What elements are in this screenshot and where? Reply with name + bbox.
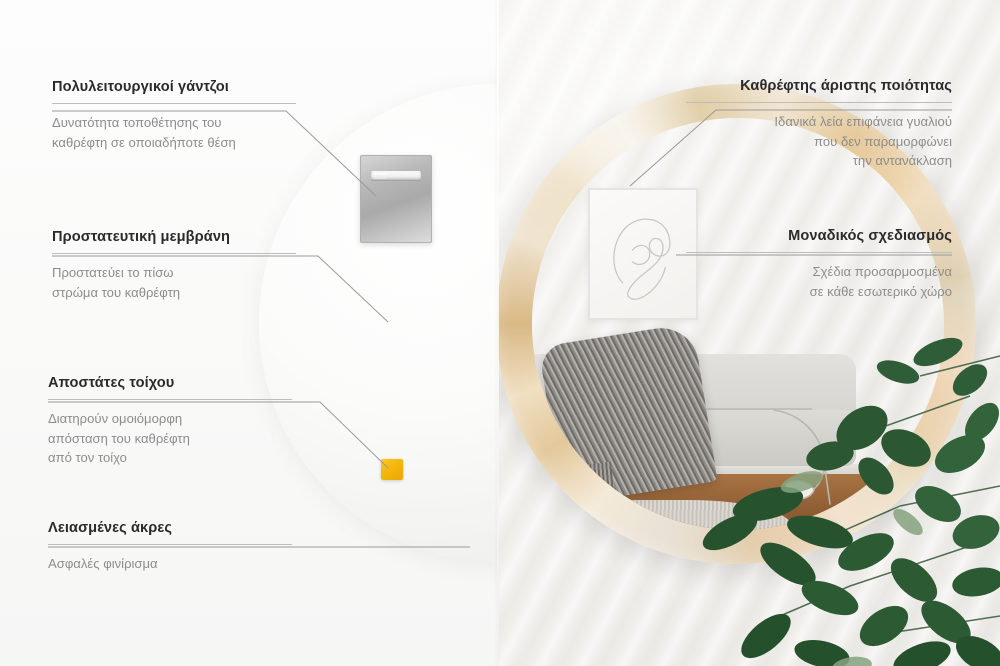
callout-edges-line-1: Ασφαλές φινίρισμα xyxy=(48,554,292,573)
callout-spacers-line-1: Διατηρούν ομοιόμορφη xyxy=(48,409,292,428)
mirror-glass xyxy=(532,118,944,530)
infographic-canvas: Πολυλειτουργικοί γάντζοι Δυνατότητα τοπο… xyxy=(0,0,1000,666)
callout-quality-rule xyxy=(686,102,952,103)
callout-design-rule xyxy=(686,252,952,253)
callout-edges: Λειασμένες άκρες Ασφαλές φινίρισμα xyxy=(48,519,292,574)
callout-membrane-line-2: στρώμα του καθρέφτη xyxy=(52,283,296,302)
callout-edges-rule xyxy=(48,544,292,545)
callout-spacers: Αποστάτες τοίχου Διατηρούν ομοιόμορφη απ… xyxy=(48,374,292,467)
callout-hooks-title: Πολυλειτουργικοί γάντζοι xyxy=(52,78,296,96)
callout-hooks-line-2: καθρέφτη σε οποιαδήποτε θέση xyxy=(52,133,296,152)
callout-membrane-rule xyxy=(52,253,296,254)
callout-quality-mirror: Καθρέφτης άριστης ποιότητας Ιδανικά λεία… xyxy=(686,77,952,170)
hook-plate-icon xyxy=(360,155,432,243)
callout-quality-line-1: Ιδανικά λεία επιφάνεια γυαλιού xyxy=(686,112,952,131)
callout-design-line-1: Σχέδια προσαρμοσμένα xyxy=(686,262,952,281)
callout-spacers-title: Αποστάτες τοίχου xyxy=(48,374,292,392)
wall-spacer-icon xyxy=(381,459,403,480)
callout-spacers-line-3: από τον τοίχο xyxy=(48,448,292,467)
hook-slot xyxy=(371,171,421,181)
callout-design-title: Μοναδικός σχεδιασμός xyxy=(686,227,952,245)
callout-hooks: Πολυλειτουργικοί γάντζοι Δυνατότητα τοπο… xyxy=(52,78,296,152)
callout-quality-title: Καθρέφτης άριστης ποιότητας xyxy=(686,77,952,95)
callout-spacers-rule xyxy=(48,399,292,400)
callout-design-line-2: σε κάθε εσωτερικό χώρο xyxy=(686,282,952,301)
reflected-throw-fringe xyxy=(538,462,617,515)
callout-quality-line-2: που δεν παραμορφώνει xyxy=(686,132,952,151)
callout-hooks-line-1: Δυνατότητα τοποθέτησης του xyxy=(52,113,296,132)
panel-divider xyxy=(497,0,499,666)
callout-edges-title: Λειασμένες άκρες xyxy=(48,519,292,537)
callout-membrane-title: Προστατευτική μεμβράνη xyxy=(52,228,296,246)
callout-spacers-line-2: απόσταση του καθρέφτη xyxy=(48,429,292,448)
callout-membrane-line-1: Προστατεύει το πίσω xyxy=(52,263,296,282)
callout-hooks-rule xyxy=(52,103,296,104)
callout-membrane: Προστατευτική μεμβράνη Προστατεύει το πί… xyxy=(52,228,296,302)
callout-quality-line-3: την αντανάκλαση xyxy=(686,151,952,170)
callout-unique-design: Μοναδικός σχεδιασμός Σχέδια προσαρμοσμέν… xyxy=(686,227,952,301)
reflected-floor-lamp xyxy=(764,408,856,512)
reflected-lineart-poster xyxy=(588,188,698,320)
